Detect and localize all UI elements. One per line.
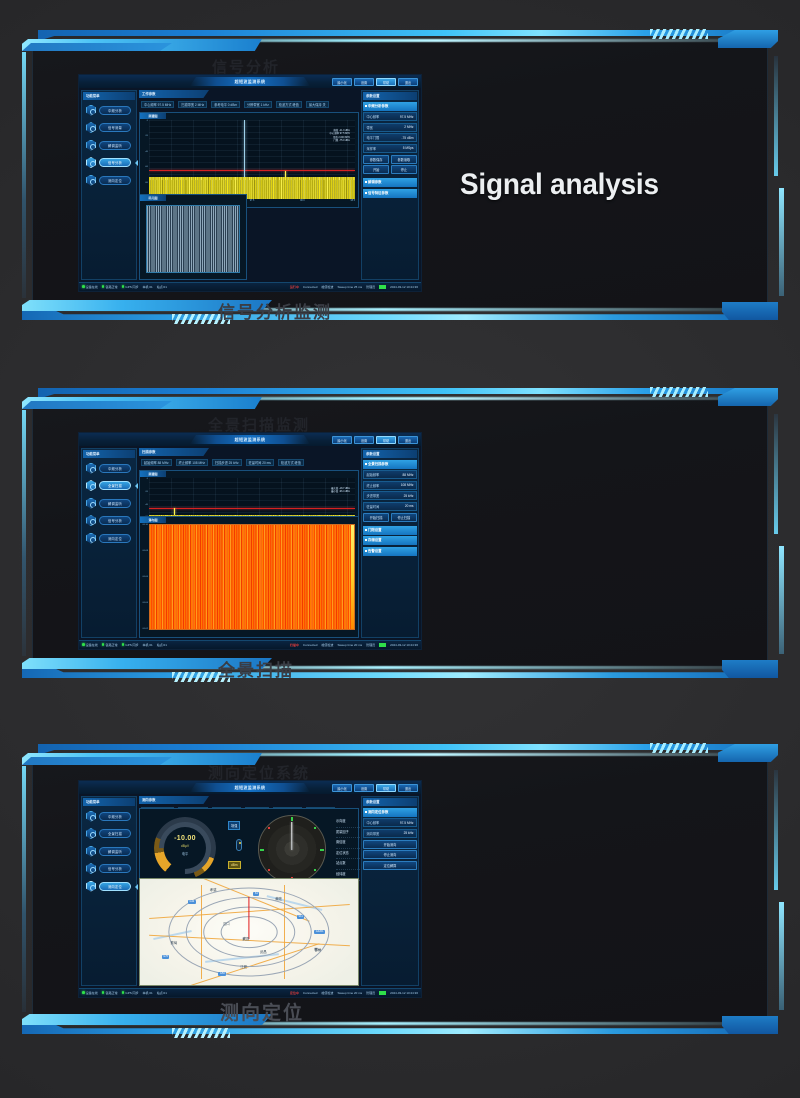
right-section-df-params[interactable]: 测向定位参数 [363, 808, 417, 817]
status-item-host: 本机:01 [143, 643, 153, 647]
titlebar-button-exit[interactable]: 退出 [398, 784, 418, 792]
stop-df-button[interactable]: 停止测向 [363, 850, 417, 859]
app-title: 超短波监测系统 [190, 435, 310, 444]
spectrum-y-axis: 0 -20 -40 -60 -80 -100 [140, 120, 149, 199]
status-user: 管理员 [366, 991, 375, 995]
right-row-dwell[interactable]: 驻留时间 20 ms [363, 502, 417, 511]
right-edge-accent [774, 414, 778, 534]
wave-icon [86, 811, 96, 822]
bitmap-plot [146, 205, 240, 273]
map-road-chip: G70 [162, 955, 170, 959]
titlebar-button-exit[interactable]: 退出 [398, 78, 418, 86]
titlebar-button-settings[interactable]: 设置 [354, 436, 374, 444]
titlebar-button-help[interactable]: 帮助 [376, 784, 396, 792]
status-alert: 运行中 [290, 285, 299, 289]
sidebar-item-if-analysis[interactable]: 中频分析 [84, 809, 134, 824]
map-label: 黄陂 [275, 896, 282, 901]
app-sidebar: 功能菜单 中频分析 信号测量 解调监听 信号分 [81, 90, 137, 280]
map-city-label: 武汉 [242, 936, 249, 941]
status-timestamp: 2024-03-12 10:24:36 [390, 643, 418, 647]
titlebar-button-minimize[interactable]: 最小化 [332, 78, 352, 86]
signal-icon [86, 863, 96, 874]
app-center-column: 测向参数 中心频率 97.5 MHz 测向带宽 25 kHz 参考电平 0 dB… [139, 796, 359, 986]
waterfall-y-axis: 00:10 00:08 00:06 00:04 00:02 [140, 524, 149, 630]
right-section-alarm[interactable]: 告警设置 [363, 547, 417, 556]
stop-scan-button[interactable]: 停止扫描 [391, 513, 417, 522]
map-label: 汉口 [223, 921, 230, 926]
param-chip[interactable]: 检波方式 峰值 [276, 101, 302, 108]
right-row-center-freq[interactable]: 中心频率 97.5 MHz [363, 818, 417, 827]
bitmap-panel[interactable]: 码元图 [139, 194, 247, 280]
app-right-panel: 参数设置 全景扫描参数 起始频率 88 MHz 终止频率 108 MHz 步进带… [361, 448, 419, 638]
status-indicator-device: 设备在线 [82, 285, 98, 289]
center-header: 工作参数 [139, 90, 209, 98]
hatch-decoration [650, 29, 708, 39]
status-timestamp: 2024-03-12 10:24:36 [390, 285, 418, 289]
status-detector: 峰值检波 [321, 285, 333, 289]
level-gauge-label: 电平 [154, 851, 216, 856]
app-screenshot-panoramic-scanning[interactable]: 超短波监测系统 最小化 设置 帮助 退出 功能菜单 中频分析 [78, 432, 422, 650]
app-center-column: 工作参数 中心频率 97.5 MHz 扫描带宽 2 MHz 参考电平 0 dBm… [139, 90, 359, 280]
titlebar-button-exit[interactable]: 退出 [398, 436, 418, 444]
threshold-line [149, 170, 355, 171]
audio-icon [86, 498, 96, 509]
center-header: 扫描参数 [139, 448, 209, 456]
app-sidebar: 功能菜单 中频分析 全景扫描 解调监听 信号分 [81, 448, 137, 638]
app-title: 超短波监测系统 [190, 77, 310, 86]
bitmap-header: 码元图 [140, 195, 166, 201]
load-params-button[interactable]: 参数读取 [391, 155, 417, 164]
map-road-chip: G42 [188, 900, 196, 904]
app-status-bar: 设备在线 链路正常 GPS 同步 本机:01 站点:01 定位中 Connect… [79, 988, 421, 997]
scan-icon [86, 480, 96, 491]
left-edge-accent [22, 52, 26, 298]
spectrum-chart-header: 频谱图 [140, 471, 166, 477]
stop-button[interactable]: 停止 [391, 165, 417, 174]
signal-icon [86, 157, 96, 168]
spectrum-trace-area: 峰值 -21.3 dBm 中心频率 97.5 MHz 带宽 2.000 MHz … [149, 120, 355, 199]
wave-icon [86, 463, 96, 474]
right-row-threshold[interactable]: 电平门限 -75 dBm [363, 133, 417, 142]
threshold-line [149, 508, 355, 509]
hatch-decoration [650, 387, 708, 397]
sidebar-item-demod[interactable]: 解调监听 [84, 844, 134, 859]
status-item-host: 本机:01 [143, 285, 153, 289]
app-screenshot-lateral-positioning[interactable]: 超短波监测系统 最小化 设置 帮助 退出 功能菜单 中频分析 [78, 780, 422, 998]
param-chip[interactable]: 分辨带宽 1 kHz [244, 101, 272, 108]
bearing-compass[interactable] [258, 815, 326, 883]
spectrum-legend: 峰值 -21.3 dBm 中心频率 97.5 MHz 带宽 2.000 MHz … [330, 129, 350, 143]
status-indicator-gps: GPS 同步 [122, 991, 139, 995]
app-center-column: 扫描参数 起始频率 88 MHz 终止频率 108 MHz 扫描步进 25 kH… [139, 448, 359, 638]
compass-icon [86, 533, 96, 544]
status-mode: Connected [303, 285, 318, 289]
compass-icon [86, 881, 96, 892]
param-chip[interactable]: 扫描带宽 2 MHz [178, 101, 207, 108]
sidebar-item-direction-finding[interactable]: 测向定位 [84, 879, 134, 894]
map-label: 武昌 [260, 949, 267, 954]
hatch-decoration [172, 1028, 230, 1038]
map-road-chip: S1 [253, 892, 259, 896]
right-edge-accent-lower [779, 188, 784, 296]
scan-icon [86, 828, 96, 839]
panel-caption-signal-analysis: Signal analysis [460, 168, 739, 203]
peak-marker [174, 508, 175, 515]
titlebar-buttons: 最小化 设置 帮助 退出 [332, 784, 418, 792]
titlebar-button-minimize[interactable]: 最小化 [332, 436, 352, 444]
right-button-group: 开始测向 停止测向 定位解算 [363, 840, 417, 870]
hatch-decoration [650, 743, 708, 753]
level-gauge-value: -10.00 [154, 835, 216, 842]
status-indicator-link: 链路正常 [102, 643, 118, 647]
status-detector: 峰值检波 [321, 643, 333, 647]
wave-icon [86, 105, 96, 116]
audio-icon [86, 846, 96, 857]
app-body: 功能菜单 中频分析 全景扫描 解调监听 信号分 [79, 794, 421, 988]
spectrum-chart-header: 频谱图 [140, 113, 166, 119]
right-panel-header: 参数设置 [363, 92, 417, 100]
spectrum-legend: 最大值 -18.7 dBm 最小值 -96.4 dBm [331, 487, 350, 494]
app-screenshot-signal-analysis[interactable]: 超短波监测系统 最小化 设置 帮助 退出 功能菜单 中频分析 [78, 74, 422, 292]
map-label: 孝感 [210, 887, 217, 892]
status-timestamp: 2024-03-12 10:24:36 [390, 991, 418, 995]
right-section-features[interactable]: 信号特征参数 [363, 189, 417, 198]
panel-bottom-frame [22, 1012, 778, 1036]
right-section-scan-params[interactable]: 全景扫描参数 [363, 460, 417, 469]
waterfall-plot [149, 524, 355, 630]
status-sweep: Sweep time 20 ms [337, 643, 362, 647]
ghost-caption-bottom: 信号分析监测 [218, 298, 332, 323]
map-label: 鄂州 [314, 947, 321, 952]
status-alert: 扫描中 [290, 643, 299, 647]
map-label: 蔡甸 [171, 940, 178, 945]
app-title: 超短波监测系统 [190, 783, 310, 792]
save-params-button[interactable]: 参数保存 [363, 155, 389, 164]
app-titlebar: 超短波监测系统 最小化 设置 帮助 退出 [79, 433, 421, 446]
sidebar-item-measure[interactable]: 信号测量 [84, 120, 134, 135]
status-ok-icon [379, 285, 386, 289]
sidebar-item-if-analysis[interactable]: 中频分析 [84, 461, 134, 476]
audio-icon [86, 140, 96, 151]
sidebar-header: 功能菜单 [83, 450, 135, 458]
waterfall-chart[interactable]: 瀑布图 00:10 00:08 00:06 00:04 00:02 [139, 516, 359, 638]
right-row-center-freq[interactable]: 中心频率 97.5 MHz [363, 112, 417, 121]
app-titlebar: 超短波监测系统 最小化 设置 帮助 退出 [79, 781, 421, 794]
param-strip: 起始频率 88 MHz 终止频率 108 MHz 扫描步进 25 kHz 驻留时… [139, 458, 359, 466]
right-button-group: 参数保存 参数读取 开始 停止 [363, 155, 417, 175]
center-header: 测向参数 [139, 796, 209, 804]
right-section-threshold[interactable]: 门限设置 [363, 526, 417, 535]
titlebar-button-settings[interactable]: 设置 [354, 78, 374, 86]
titlebar-button-help[interactable]: 帮助 [376, 78, 396, 86]
level-indicator-knob[interactable] [236, 839, 242, 851]
map-road-chip: S11 [297, 915, 304, 919]
sidebar-item-if-analysis[interactable]: 中频分析 [84, 103, 134, 118]
status-sweep: Sweep time 25 ms [337, 285, 362, 289]
titlebar-button-help[interactable]: 帮助 [376, 436, 396, 444]
sidebar-item-demod[interactable]: 解调监听 [84, 138, 134, 153]
sidebar-item-signal-analysis[interactable]: 信号分析 [84, 513, 134, 528]
app-status-bar: 设备在线 链路正常 GPS 同步 本机:01 站点:01 运行中 Connect… [79, 282, 421, 291]
titlebar-buttons: 最小化 设置 帮助 退出 [332, 436, 418, 444]
status-detector: 峰值检波 [321, 991, 333, 995]
titlebar-button-minimize[interactable]: 最小化 [332, 784, 352, 792]
right-section-if-params[interactable]: 中频分析参数 [363, 102, 417, 111]
right-row-df-bandwidth[interactable]: 测向带宽 25 kHz [363, 829, 417, 838]
param-chip[interactable]: 驻留时间 20 ms [246, 459, 274, 466]
field-strength-chip: 场强 [228, 821, 240, 830]
status-indicator-gps: GPS 同步 [122, 285, 139, 289]
app-status-bar: 设备在线 链路正常 GPS 同步 本机:01 站点:01 扫描中 Connect… [79, 640, 421, 649]
sidebar-item-panoramic-scan[interactable]: 全景扫描 [84, 826, 134, 841]
app-body: 功能菜单 中频分析 全景扫描 解调监听 信号分 [79, 446, 421, 640]
unit-chip-dbm: dBm [228, 861, 241, 869]
sidebar-item-signal-analysis[interactable]: 信号分析 [84, 155, 134, 170]
right-edge-accent [774, 56, 778, 176]
status-ok-icon [379, 991, 386, 995]
panel-top-frame [22, 744, 778, 766]
right-section-storage[interactable]: 存储设置 [363, 536, 417, 545]
waterfall-header: 瀑布图 [140, 517, 166, 523]
sidebar-item-demod[interactable]: 解调监听 [84, 496, 134, 511]
start-scan-button[interactable]: 开始扫描 [363, 513, 389, 522]
app-sidebar: 功能菜单 中频分析 全景扫描 解调监听 信号分 [81, 796, 137, 986]
panel-bottom-frame [22, 656, 778, 680]
right-row-stop-freq[interactable]: 终止频率 108 MHz [363, 481, 417, 490]
compass-icon [86, 175, 96, 186]
param-chip[interactable]: 参考电平 0 dBm [211, 101, 240, 108]
sidebar-item-direction-finding[interactable]: 测向定位 [84, 531, 134, 546]
sidebar-header: 功能菜单 [83, 798, 135, 806]
positioning-map[interactable]: 武汉 孝感 黄陂 鄂州 江夏 汉口 武昌 蔡甸 G42 S11 G70 S1 G… [139, 878, 359, 986]
titlebar-buttons: 最小化 设置 帮助 退出 [332, 78, 418, 86]
level-gauge-unit: dBμV [154, 844, 216, 848]
right-edge-accent [774, 770, 778, 890]
right-panel-header: 参数设置 [363, 450, 417, 458]
ghost-caption-bottom: 测向定位 [220, 998, 304, 1025]
status-indicator-link: 链路正常 [102, 285, 118, 289]
left-edge-accent [22, 410, 26, 656]
solve-position-button[interactable]: 定位解算 [363, 861, 417, 870]
app-right-panel: 参数设置 测向定位参数 中心频率 97.5 MHz 测向带宽 25 kHz 开始… [361, 796, 419, 986]
signal-icon [86, 515, 96, 526]
titlebar-button-settings[interactable]: 设置 [354, 784, 374, 792]
status-indicator-gps: GPS 同步 [122, 643, 139, 647]
param-chip[interactable]: 终止频率 108 MHz [176, 459, 208, 466]
param-chip[interactable]: 中心频率 97.5 MHz [141, 101, 174, 108]
bearing-ray [248, 897, 249, 939]
panel-top-frame [22, 388, 778, 410]
status-indicator-device: 设备在线 [82, 991, 98, 995]
status-user: 管理员 [366, 285, 375, 289]
app-titlebar: 超短波监测系统 最小化 设置 帮助 退出 [79, 75, 421, 88]
app-right-panel: 参数设置 中频分析参数 中心频率 97.5 MHz 带宽 2 MHz 电平门限 … [361, 90, 419, 280]
start-button[interactable]: 开始 [363, 165, 389, 174]
right-row-bandwidth[interactable]: 带宽 2 MHz [363, 123, 417, 132]
right-row-start-freq[interactable]: 起始频率 88 MHz [363, 470, 417, 479]
status-sweep: Sweep time 20 ms [337, 991, 362, 995]
status-ok-icon [379, 643, 386, 647]
status-item-site: 站点:01 [157, 991, 167, 995]
map-label: 江夏 [240, 964, 247, 969]
ghost-caption-bottom: 全景扫描 [218, 656, 294, 681]
status-mode: Connected [303, 991, 318, 995]
param-chip[interactable]: 扫描步进 25 kHz [212, 459, 242, 466]
left-edge-accent [22, 766, 26, 1012]
status-indicator-link: 链路正常 [102, 991, 118, 995]
status-user: 管理员 [366, 643, 375, 647]
sidebar-item-panoramic-scan[interactable]: 全景扫描 [84, 478, 134, 493]
app-body: 功能菜单 中频分析 信号测量 解调监听 信号分 [79, 88, 421, 282]
right-section-demod[interactable]: 解调参数 [363, 178, 417, 187]
map-road-chip: G4201 [314, 930, 325, 934]
right-panel-header: 参数设置 [363, 798, 417, 806]
param-strip: 中心频率 97.5 MHz 扫描带宽 2 MHz 参考电平 0 dBm 分辨带宽… [139, 100, 359, 108]
gauge-icon [86, 122, 96, 133]
map-road-chip: G50 [218, 972, 226, 976]
right-row-sample-rate[interactable]: 采样率 5 MSps [363, 144, 417, 153]
status-indicator-device: 设备在线 [82, 643, 98, 647]
right-edge-accent-lower [779, 546, 784, 654]
hud-panel-signal-analysis: 信号分析 信号分析监测 超短波监测系统 最小化 设置 帮助 退出 功能菜单 [22, 16, 778, 334]
sidebar-header: 功能菜单 [83, 92, 135, 100]
hud-panel-panoramic-scanning: 全景扫描监测 全景扫描 超短波监测系统 最小化 设置 帮助 退出 功能菜单 中频… [22, 374, 778, 692]
right-row-step[interactable]: 步进带宽 25 kHz [363, 491, 417, 500]
sidebar-item-direction-finding[interactable]: 测向定位 [84, 173, 134, 188]
right-button-group: 开始扫描 停止扫描 [363, 513, 417, 522]
page-root: 信号分析 信号分析监测 超短波监测系统 最小化 设置 帮助 退出 功能菜单 [0, 0, 800, 1098]
right-edge-accent-lower [779, 902, 784, 1010]
hud-panel-lateral-positioning: 测向定位系统 测向定位 超短波监测系统 最小化 设置 帮助 退出 功能菜单 中频… [22, 730, 778, 1048]
level-gauge-ring [148, 811, 222, 885]
sidebar-item-signal-analysis[interactable]: 信号分析 [84, 861, 134, 876]
param-chip[interactable]: 最大保持 关 [306, 101, 329, 108]
status-item-site: 站点:01 [157, 285, 167, 289]
status-alert: 定位中 [290, 991, 299, 995]
param-chip[interactable]: 起始频率 88 MHz [141, 459, 172, 466]
panel-top-frame [22, 30, 778, 52]
param-chip[interactable]: 检波方式 峰值 [278, 459, 304, 466]
panel-bottom-frame [22, 298, 778, 322]
start-df-button[interactable]: 开始测向 [363, 840, 417, 849]
status-item-site: 站点:01 [157, 643, 167, 647]
status-mode: Connected [303, 643, 318, 647]
status-item-host: 本机:01 [143, 991, 153, 995]
